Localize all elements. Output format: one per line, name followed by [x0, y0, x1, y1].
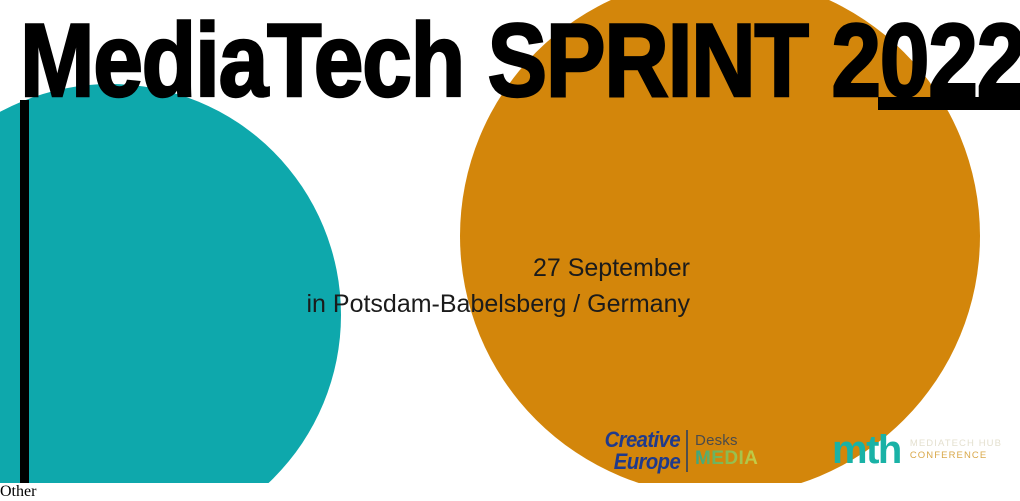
creative-europe-wordmark: Creative Europe — [598, 429, 680, 473]
mediatech-hub-logo: mth MEDIATECH HUB CONFERENCE — [832, 424, 1002, 476]
event-poster: MediaTech SPRINT 2022 27 September in Po… — [0, 0, 1020, 483]
creative-europe-subtitle: Desks MEDIA — [695, 433, 758, 470]
creative-europe-line2: Europe — [614, 451, 680, 473]
creative-europe-logo: Creative Europe Desks MEDIA — [598, 425, 758, 477]
creative-europe-line1: Creative — [605, 429, 680, 451]
mth-subtitle-line2: CONFERENCE — [910, 450, 1002, 462]
mth-subtitle-line1: MEDIATECH HUB — [910, 438, 1002, 450]
creative-europe-divider — [686, 430, 688, 472]
creative-europe-media-label: MEDIA — [695, 449, 758, 470]
title-block: MediaTech SPRINT 2022 — [0, 0, 1020, 135]
title-horizontal-rule — [878, 97, 1020, 110]
creative-europe-desks-label: Desks — [695, 433, 758, 449]
mth-subtitle: MEDIATECH HUB CONFERENCE — [910, 438, 1002, 462]
mth-wordmark: mth — [832, 430, 901, 470]
logo-row: Creative Europe Desks MEDIA mth MEDIATEC… — [0, 418, 1020, 483]
event-location: in Potsdam-Babelsberg / Germany — [0, 286, 690, 322]
event-date: 27 September — [0, 250, 690, 286]
event-details: 27 September in Potsdam-Babelsberg / Ger… — [0, 250, 690, 322]
page-title: MediaTech SPRINT 2022 — [20, 4, 1020, 118]
